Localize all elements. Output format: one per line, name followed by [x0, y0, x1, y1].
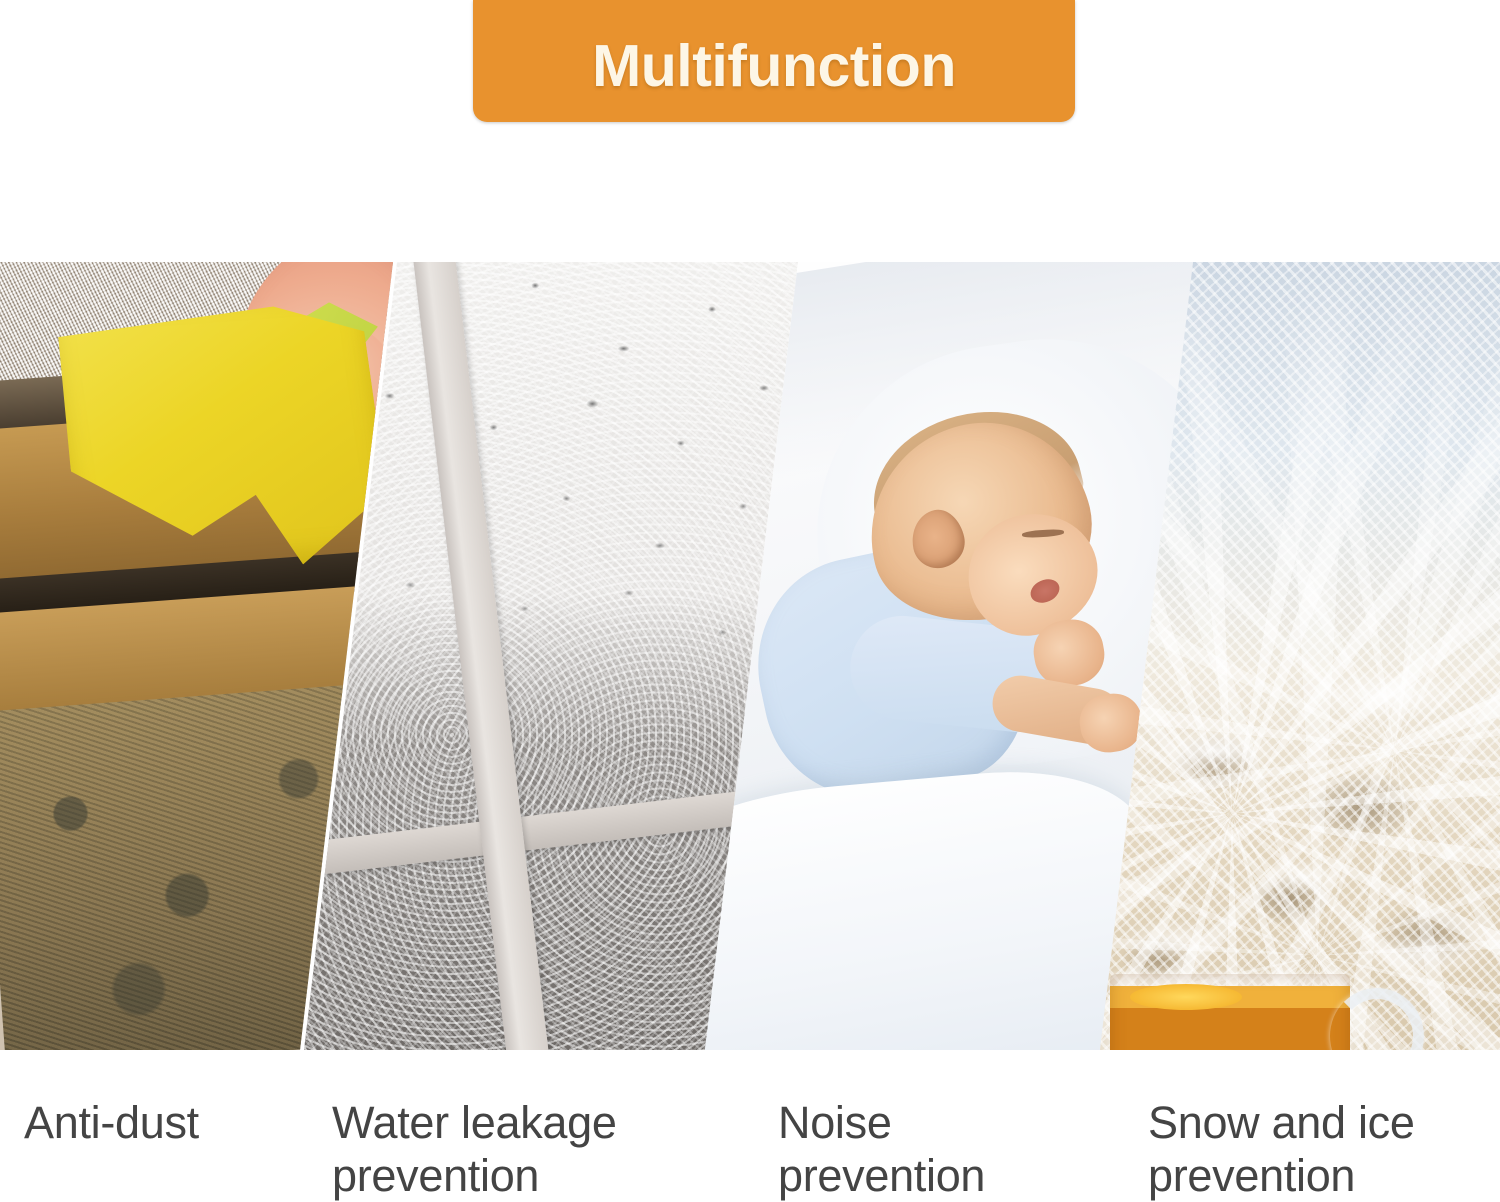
lemon-slice	[1130, 984, 1242, 1010]
caption-noise-prevention: Noise prevention	[778, 1050, 1108, 1202]
feature-panel-strip	[0, 262, 1500, 1050]
header-banner: Multifunction	[473, 0, 1075, 122]
caption-row: Anti-dust Water leakage prevention Noise…	[0, 1050, 1500, 1197]
white-blanket	[700, 760, 1162, 1050]
caption-water-leakage-prevention: Water leakage prevention	[332, 1050, 682, 1202]
page-title: Multifunction	[592, 27, 956, 96]
caption-anti-dust: Anti-dust	[24, 1050, 324, 1150]
glass-teacup	[1110, 974, 1350, 1050]
caption-snow-and-ice-prevention: Snow and ice prevention	[1148, 1050, 1488, 1202]
